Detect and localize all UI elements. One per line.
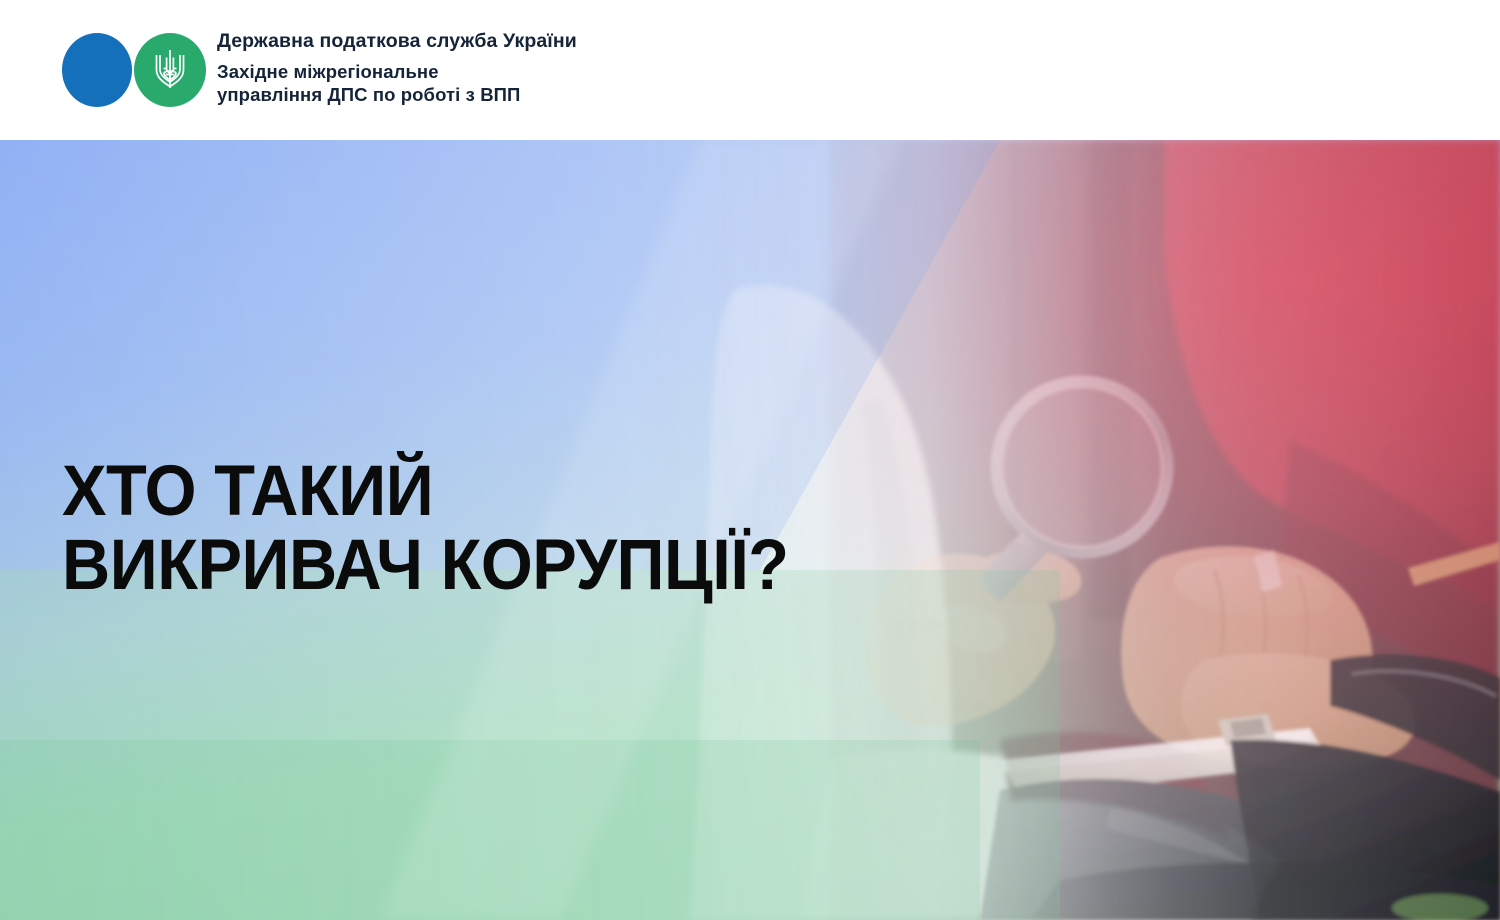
headline-line-2: ВИКРИВАЧ КОРУПЦІЇ? [62,529,789,603]
logo-blue-circle-icon [62,33,132,107]
dps-logo[interactable] [62,33,207,107]
organisation-subtitle-line1: Західне міжрегіональне [217,60,577,83]
organisation-text: Державна податкова служба України Західн… [217,32,577,109]
banner-headline: ХТО ТАКИЙ ВИКРИВАЧ КОРУПЦІЇ? [62,455,835,603]
organisation-title: Державна податкова служба України [217,32,577,52]
organisation-subtitle-line2: управління ДПС по роботі з ВПП [217,83,577,106]
poster-root: ХТО ТАКИЙ ВИКРИВАЧ КОРУПЦІЇ? [0,0,1500,920]
headline-line-1: ХТО ТАКИЙ [62,455,789,529]
site-header: Державна податкова служба України Західн… [0,0,1500,140]
logo-green-circle-icon [134,33,206,107]
ukrainian-trident-icon [153,48,187,92]
